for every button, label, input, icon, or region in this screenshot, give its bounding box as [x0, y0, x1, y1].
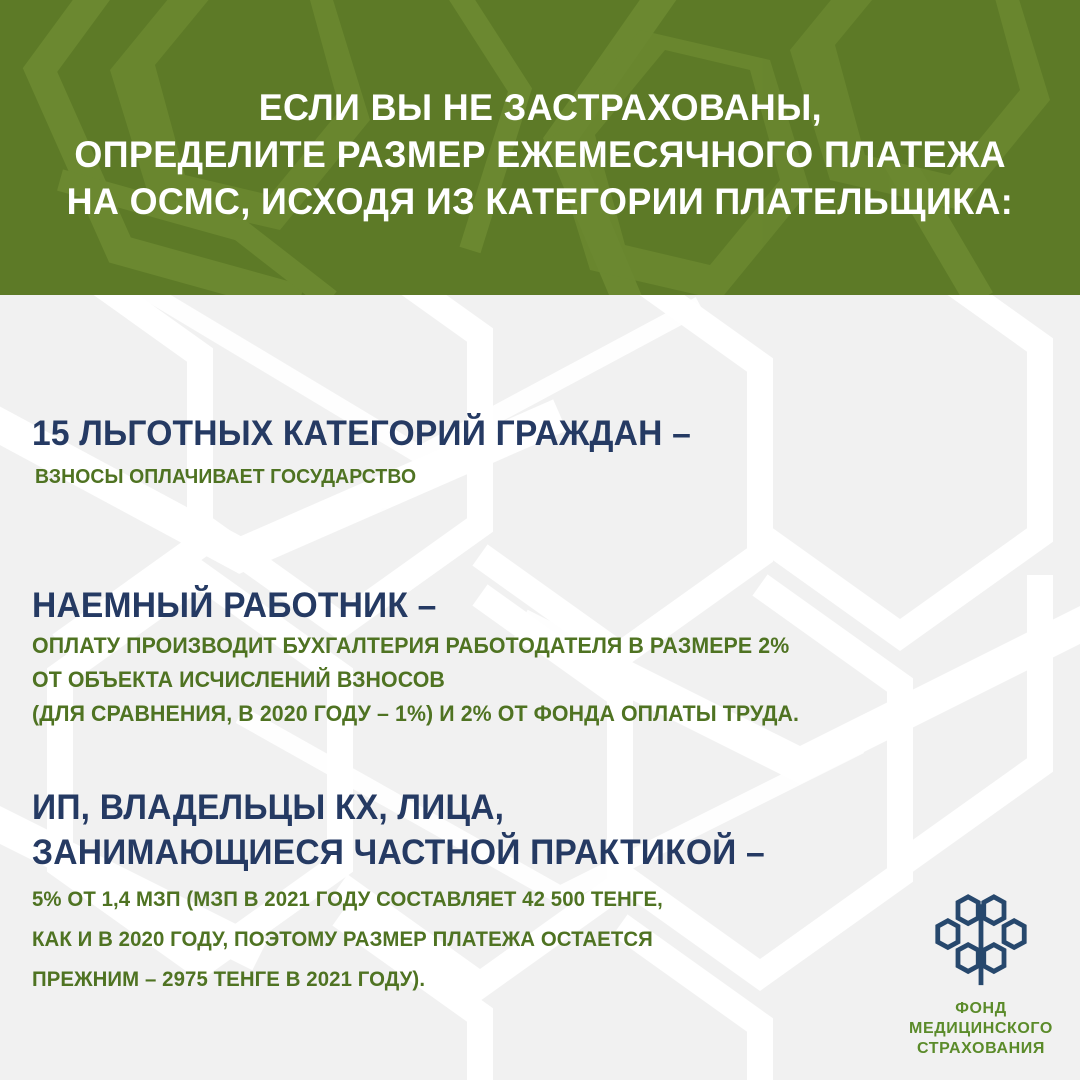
- category-block-benefit: 15 ЛЬГОТНЫХ КАТЕГОРИЙ ГРАЖДАН – ВЗНОСЫ О…: [32, 413, 718, 491]
- block-heading-line: ИП, ВЛАДЕЛЬЦЫ КХ, ЛИЦА,: [32, 785, 765, 830]
- block-body-line: ОТ ОБЪЕКТА ИСЧИСЛЕНИЙ ВЗНОСОВ: [32, 665, 799, 695]
- logo-caption-line: СТРАХОВАНИЯ: [909, 1039, 1053, 1059]
- block-heading: НАЕМНЫЙ РАБОТНИК –: [32, 585, 791, 627]
- category-block-employee: НАЕМНЫЙ РАБОТНИК – ОПЛАТУ ПРОИЗВОДИТ БУХ…: [32, 585, 823, 729]
- header-title-line-2: ОПРЕДЕЛИТЕ РАЗМЕР ЕЖЕМЕСЯЧНОГО ПЛАТЕЖА: [74, 131, 1006, 178]
- block-heading-line: ЗАНИМАЮЩИЕСЯ ЧАСТНОЙ ПРАКТИКОЙ –: [32, 830, 765, 875]
- block-body-line: ПРЕЖНИМ – 2975 ТЕНГЕ В 2021 ГОДУ).: [32, 964, 773, 995]
- header-title-line-3: НА ОСМС, ИСХОДЯ ИЗ КАТЕГОРИИ ПЛАТЕЛЬЩИКА…: [67, 178, 1014, 225]
- logo: ФОНД МЕДИЦИНСКОГО СТРАХОВАНИЯ: [893, 893, 1069, 1059]
- content: 15 ЛЬГОТНЫХ КАТЕГОРИЙ ГРАЖДАН – ВЗНОСЫ О…: [0, 295, 1080, 1080]
- header-title: ЕСЛИ ВЫ НЕ ЗАСТРАХОВАНЫ, ОПРЕДЕЛИТЕ РАЗМ…: [0, 0, 1080, 295]
- block-body-line: (ДЛЯ СРАВНЕНИЯ, В 2020 ГОДУ – 1%) И 2% О…: [32, 699, 799, 729]
- body-area: 15 ЛЬГОТНЫХ КАТЕГОРИЙ ГРАЖДАН – ВЗНОСЫ О…: [0, 295, 1080, 1080]
- logo-caption-line: МЕДИЦИНСКОГО: [909, 1019, 1053, 1039]
- header-banner: ЕСЛИ ВЫ НЕ ЗАСТРАХОВАНЫ, ОПРЕДЕЛИТЕ РАЗМ…: [0, 0, 1080, 295]
- poster: ЕСЛИ ВЫ НЕ ЗАСТРАХОВАНЫ, ОПРЕДЕЛИТЕ РАЗМ…: [0, 0, 1080, 1080]
- block-body-line: ОПЛАТУ ПРОИЗВОДИТ БУХГАЛТЕРИЯ РАБОТОДАТЕ…: [32, 631, 799, 661]
- logo-caption: ФОНД МЕДИЦИНСКОГО СТРАХОВАНИЯ: [909, 999, 1053, 1059]
- snowflake-hexagon-emblem-icon: [935, 893, 1027, 989]
- block-body-line: 5% ОТ 1,4 МЗП (МЗП В 2021 ГОДУ СОСТАВЛЯЕ…: [32, 884, 773, 915]
- category-block-entrepreneur: ИП, ВЛАДЕЛЬЦЫ КХ, ЛИЦА, ЗАНИМАЮЩИЕСЯ ЧАС…: [32, 785, 795, 995]
- block-body-line: ВЗНОСЫ ОПЛАЧИВАЕТ ГОСУДАРСТВО: [35, 463, 698, 491]
- logo-caption-line: ФОНД: [909, 999, 1053, 1019]
- block-body-line: КАК И В 2020 ГОДУ, ПОЭТОМУ РАЗМЕР ПЛАТЕЖ…: [32, 924, 773, 955]
- header-title-line-1: ЕСЛИ ВЫ НЕ ЗАСТРАХОВАНЫ,: [258, 84, 821, 131]
- block-heading: 15 ЛЬГОТНЫХ КАТЕГОРИЙ ГРАЖДАН –: [32, 413, 691, 455]
